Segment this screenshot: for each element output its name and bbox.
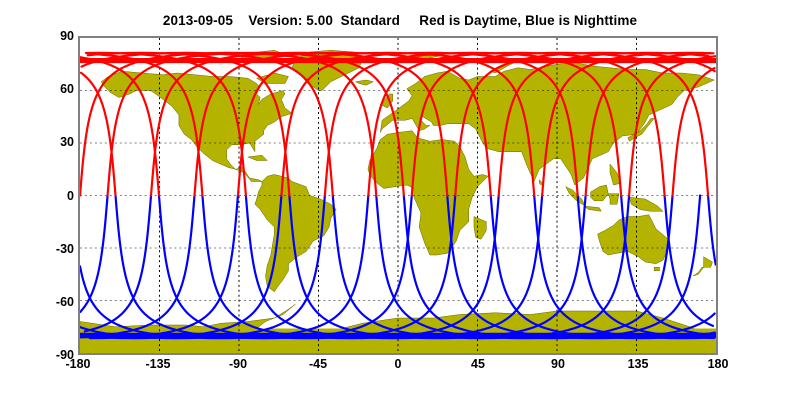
x-axis-labels: -180-135-90-4504590135180 [78,357,718,377]
x-tick-label: 90 [528,357,588,371]
x-tick-label: 0 [368,357,428,371]
x-tick-label: -90 [208,357,268,371]
landmass-new-zealand [693,257,712,276]
y-tick-label: 0 [38,189,74,203]
landmass-iceland [356,80,374,85]
landmass-java [584,206,602,211]
orbit-track-night [708,196,716,265]
landmass-cuba [248,155,267,160]
landmass-tasmania [654,267,659,271]
x-tick-label: -45 [288,357,348,371]
y-axis-labels: 9060300-30-60-90 [30,36,74,355]
x-tick-label: -135 [128,357,188,371]
page-title: 2013-09-05 Version: 5.00 Standard Red is… [0,13,800,28]
y-tick-label: -30 [38,242,74,256]
landmass-sumatra [566,187,585,206]
y-tick-label: -60 [38,295,74,309]
x-tick-label: -180 [48,357,108,371]
landmass-madagascar [474,217,486,240]
x-tick-label: 45 [448,357,508,371]
map-and-tracks [80,38,716,353]
orbit-track-night [90,196,238,339]
y-tick-label: 90 [38,29,74,43]
x-tick-label: 135 [608,357,668,371]
orbit-track-night [80,196,194,338]
landmass-australia [598,215,669,264]
landmass-south-america [255,175,336,292]
landmass-new-guinea [629,197,663,211]
plot-area [78,36,718,355]
orbit-track-night [80,196,107,312]
ground-track-figure: 2013-09-05 Version: 5.00 Standard Red is… [0,0,800,400]
landmass-africa-eurasia [368,131,488,255]
y-tick-label: 30 [38,135,74,149]
x-tick-label: 180 [688,357,748,371]
y-tick-label: 60 [38,82,74,96]
landmass-borneo [591,185,609,201]
